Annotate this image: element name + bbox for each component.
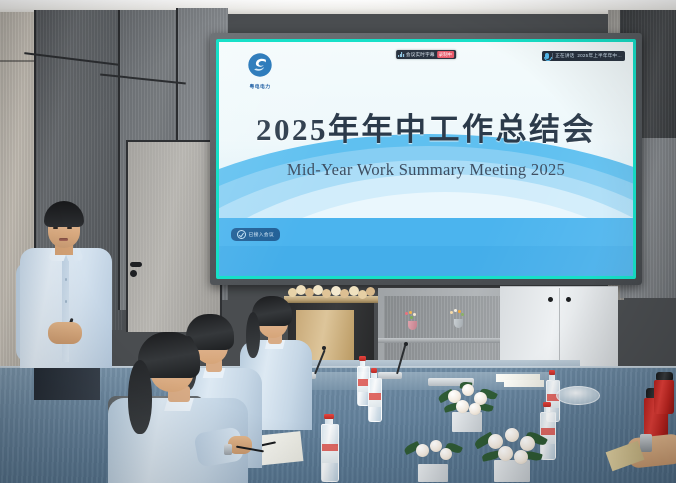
conference-connected-badge[interactable]: 已接入会议 xyxy=(231,228,280,241)
slide-subtitle-en: Mid-Year Work Summary Meeting 2025 xyxy=(219,160,633,180)
wall-mounted-display[interactable]: 粤电电力 会议实时字幕 录制中 正在讲话 2025年上半年年中… 2025年年中… xyxy=(219,42,633,276)
wave-base-fill-dark xyxy=(219,246,633,276)
water-bottle[interactable] xyxy=(368,368,380,422)
paper-sheet xyxy=(504,380,544,387)
audio-level-icon xyxy=(398,52,404,57)
wristwatch xyxy=(640,434,652,452)
cabinet-knob-right-icon[interactable] xyxy=(566,297,571,302)
microphone-head-icon xyxy=(322,346,326,350)
door-lock-icon xyxy=(130,270,137,277)
microphone-icon xyxy=(545,53,549,59)
shelf-vase-grey xyxy=(450,310,466,328)
attendee-ponytail xyxy=(246,312,260,358)
podium-dried-flowers xyxy=(286,284,378,302)
glass-ashtray xyxy=(556,386,600,405)
door-handle-icon[interactable] xyxy=(130,262,142,267)
swirl-logo-icon xyxy=(247,52,273,78)
speaker-chip-detail: 2025年上半年年中… xyxy=(577,53,622,59)
recording-status-chip[interactable]: 会议实时字幕 录制中 xyxy=(396,50,456,59)
check-circle-icon xyxy=(237,230,246,239)
slide-title-cn: 2025年年中工作总结会 xyxy=(219,104,633,149)
attendee-ponytail xyxy=(128,360,152,434)
water-bottle[interactable] xyxy=(357,356,368,406)
wall-seam xyxy=(118,10,120,310)
company-logo: 粤电电力 xyxy=(237,52,283,90)
red-thermos[interactable] xyxy=(654,372,674,414)
presenter-mouth xyxy=(59,238,68,241)
conference-badge-label: 已接入会议 xyxy=(249,231,275,238)
shirt-button xyxy=(65,300,68,303)
cabinet-knob-left-icon[interactable] xyxy=(548,297,553,302)
water-bottle[interactable] xyxy=(321,414,337,482)
wristwatch xyxy=(224,444,232,455)
flower-arrangement xyxy=(474,420,548,482)
meeting-room-door[interactable] xyxy=(126,140,222,332)
shirt-button xyxy=(65,278,68,281)
recording-chip-label: 会议实时字幕 xyxy=(406,52,435,58)
microphone-head-icon xyxy=(404,342,408,346)
flower-arrangement xyxy=(404,430,462,482)
company-logo-text: 粤电电力 xyxy=(236,84,284,90)
speaker-chip-label: 正在讲话 xyxy=(555,53,574,59)
recording-status-badge: 录制中 xyxy=(437,51,454,59)
shelf-vase-pink xyxy=(404,312,420,330)
presenter-hands xyxy=(48,322,82,344)
presenter-shirt-placket xyxy=(62,252,69,362)
active-speaker-chip[interactable]: 正在讲话 2025年上半年年中… xyxy=(542,51,625,61)
meeting-room-screenshot: 粤电电力 会议实时字幕 录制中 正在讲话 2025年上半年年中… 2025年年中… xyxy=(0,0,676,483)
